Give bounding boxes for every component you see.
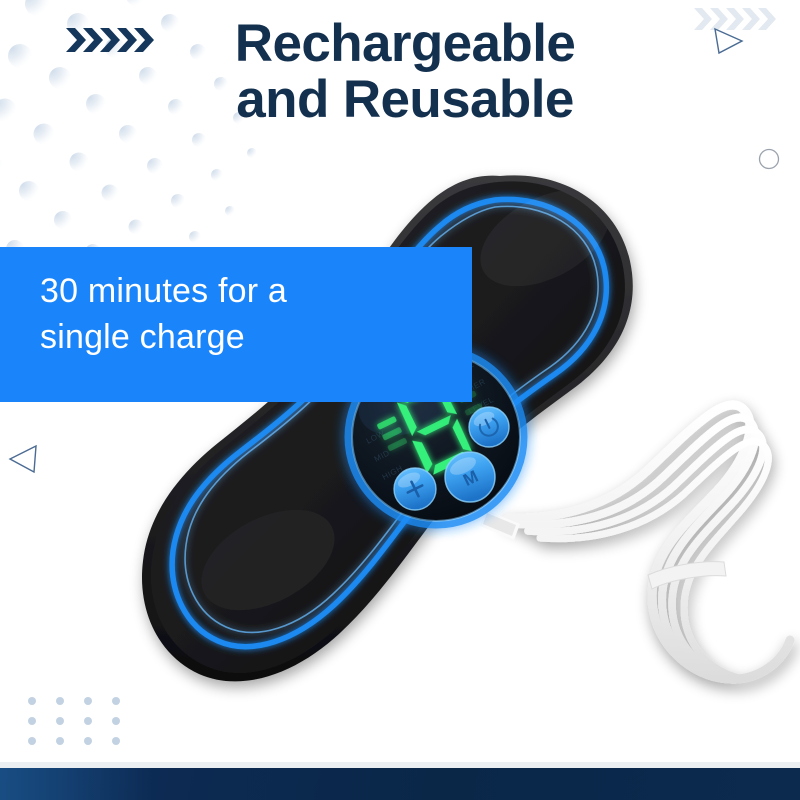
dot-grid [28, 697, 124, 747]
product-marketing-poster: MODE TIMER LEVEL LOW MID HIGH [0, 0, 800, 800]
play-triangle-left-outline-icon [6, 443, 40, 475]
chevrons-right-icon-light [694, 6, 780, 32]
mode-button: M [445, 452, 495, 502]
power-button [469, 407, 509, 447]
svg-text:HIGH: HIGH [381, 463, 405, 481]
circle-outline-icon [757, 147, 781, 171]
cable-tie [648, 562, 726, 589]
highlight-banner: 30 minutes for a single charge [0, 247, 472, 402]
svg-text:MID: MID [373, 448, 392, 464]
banner-text: 30 minutes for a single charge [40, 269, 440, 360]
intensity-button [394, 468, 436, 510]
usb-connector [480, 510, 520, 540]
footer-band [0, 768, 800, 800]
usb-charging-cable [505, 405, 790, 679]
page-title: Rechargeable and Reusable [120, 16, 690, 128]
svg-text:LOW: LOW [365, 429, 387, 446]
svg-text:M: M [460, 467, 481, 490]
play-triangle-outline-icon [712, 26, 746, 56]
